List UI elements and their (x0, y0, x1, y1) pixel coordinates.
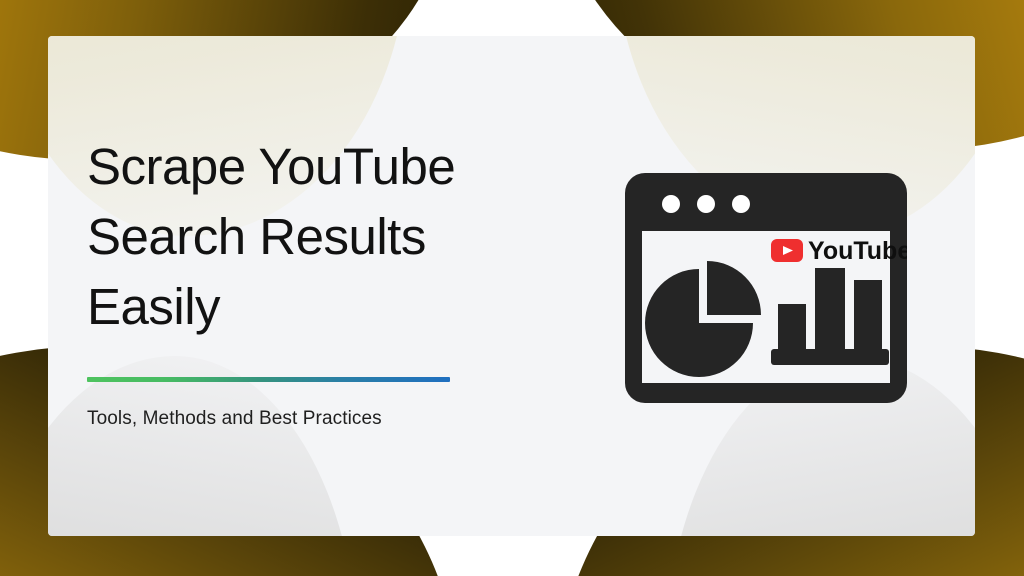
text-block: Scrape YouTube Search Results Easily Too… (87, 132, 517, 431)
slide-canvas: Scrape YouTube Search Results Easily Too… (0, 0, 1024, 576)
page-title: Scrape YouTube Search Results Easily (87, 132, 517, 342)
window-dots (662, 195, 750, 213)
subtitle: Tools, Methods and Best Practices (87, 407, 517, 431)
browser-analytics-illustration: YouTube (625, 173, 907, 403)
youtube-wordmark: YouTube (808, 237, 907, 265)
gradient-divider (87, 377, 450, 382)
content-card: Scrape YouTube Search Results Easily Too… (48, 36, 975, 536)
youtube-logo: YouTube (771, 237, 907, 265)
